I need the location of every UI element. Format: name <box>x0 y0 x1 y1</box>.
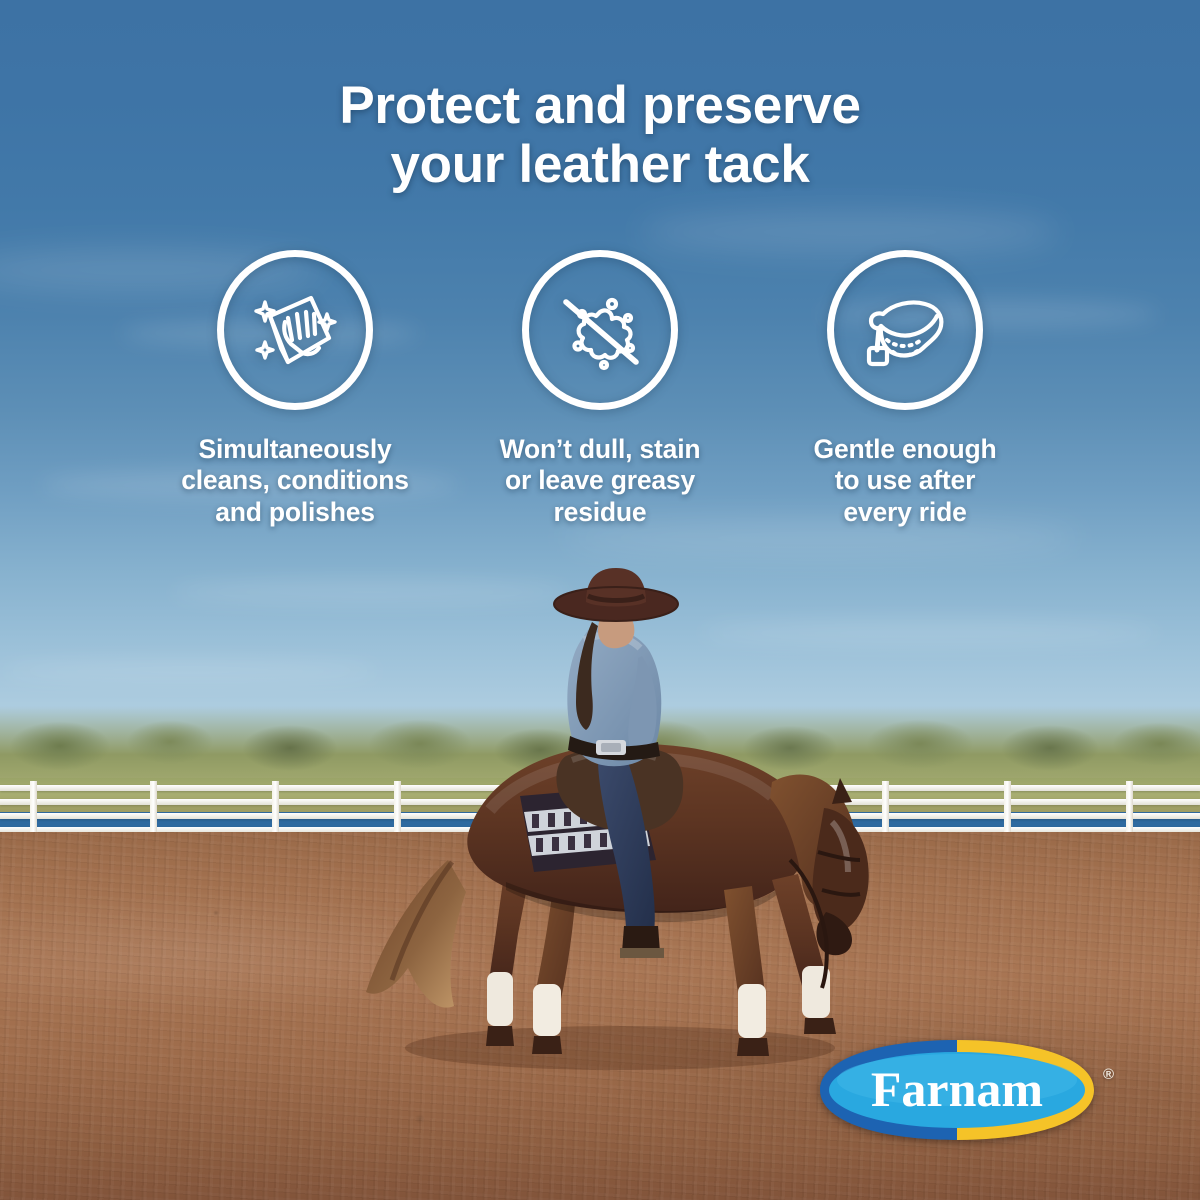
feature-item: Simultaneously cleans, conditions and po… <box>150 250 440 528</box>
no-stain-splatter-icon <box>548 278 652 382</box>
brand-wordmark: Farnam <box>871 1061 1043 1117</box>
page-title: Protect and preserve your leather tack <box>0 76 1200 195</box>
polish-cloth-sparkle-icon <box>243 278 347 382</box>
feature-caption: Simultaneously cleans, conditions and po… <box>181 434 409 528</box>
farnam-logo[interactable]: Farnam ® <box>812 1036 1102 1144</box>
feature-list: Simultaneously cleans, conditions and po… <box>150 250 1050 528</box>
feature-item: Gentle enough to use after every ride <box>760 250 1050 528</box>
horse-and-rider <box>320 560 880 1080</box>
feature-badge-circle <box>522 250 678 410</box>
saddle-icon <box>853 278 957 382</box>
feature-caption: Gentle enough to use after every ride <box>814 434 997 528</box>
feature-caption: Won’t dull, stain or leave greasy residu… <box>500 434 701 528</box>
registered-trademark-symbol: ® <box>1103 1066 1114 1083</box>
feature-badge-circle <box>827 250 983 410</box>
ad-canvas: Protect and preserve your leather tack <box>0 0 1200 1200</box>
feature-item: Won’t dull, stain or leave greasy residu… <box>455 250 745 528</box>
feature-badge-circle <box>217 250 373 410</box>
